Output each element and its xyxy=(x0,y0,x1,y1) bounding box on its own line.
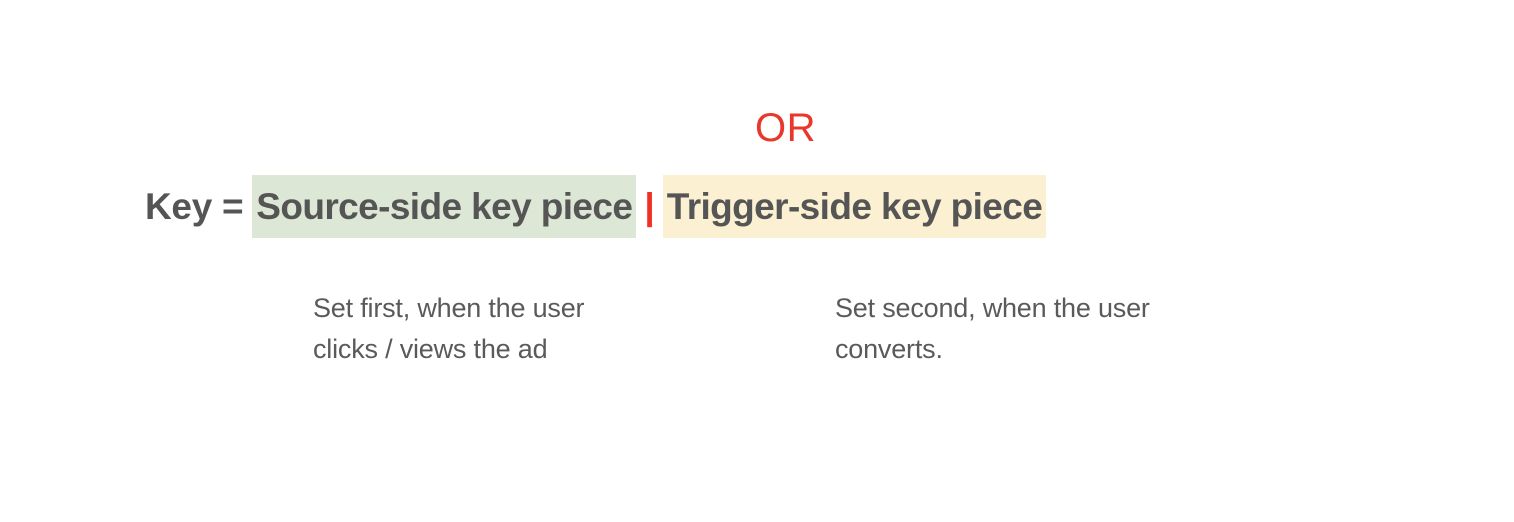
key-piece-separator: | xyxy=(636,175,662,238)
key-label: Key = xyxy=(145,175,252,238)
trigger-side-caption: Set second, when the user converts. xyxy=(835,288,1295,370)
caption-line: Set second, when the user xyxy=(835,288,1295,329)
diagram-canvas: OR Key = Source-side key piece | Trigger… xyxy=(0,0,1514,522)
caption-line: Set first, when the user xyxy=(313,288,713,329)
source-side-caption: Set first, when the user clicks / views … xyxy=(313,288,713,370)
key-formula-row: Key = Source-side key piece | Trigger-si… xyxy=(145,175,1046,238)
source-side-key-piece: Source-side key piece xyxy=(252,175,636,238)
trigger-side-key-piece: Trigger-side key piece xyxy=(663,175,1046,238)
or-connector-label: OR xyxy=(755,108,816,148)
caption-line: clicks / views the ad xyxy=(313,329,713,370)
caption-line: converts. xyxy=(835,329,1295,370)
